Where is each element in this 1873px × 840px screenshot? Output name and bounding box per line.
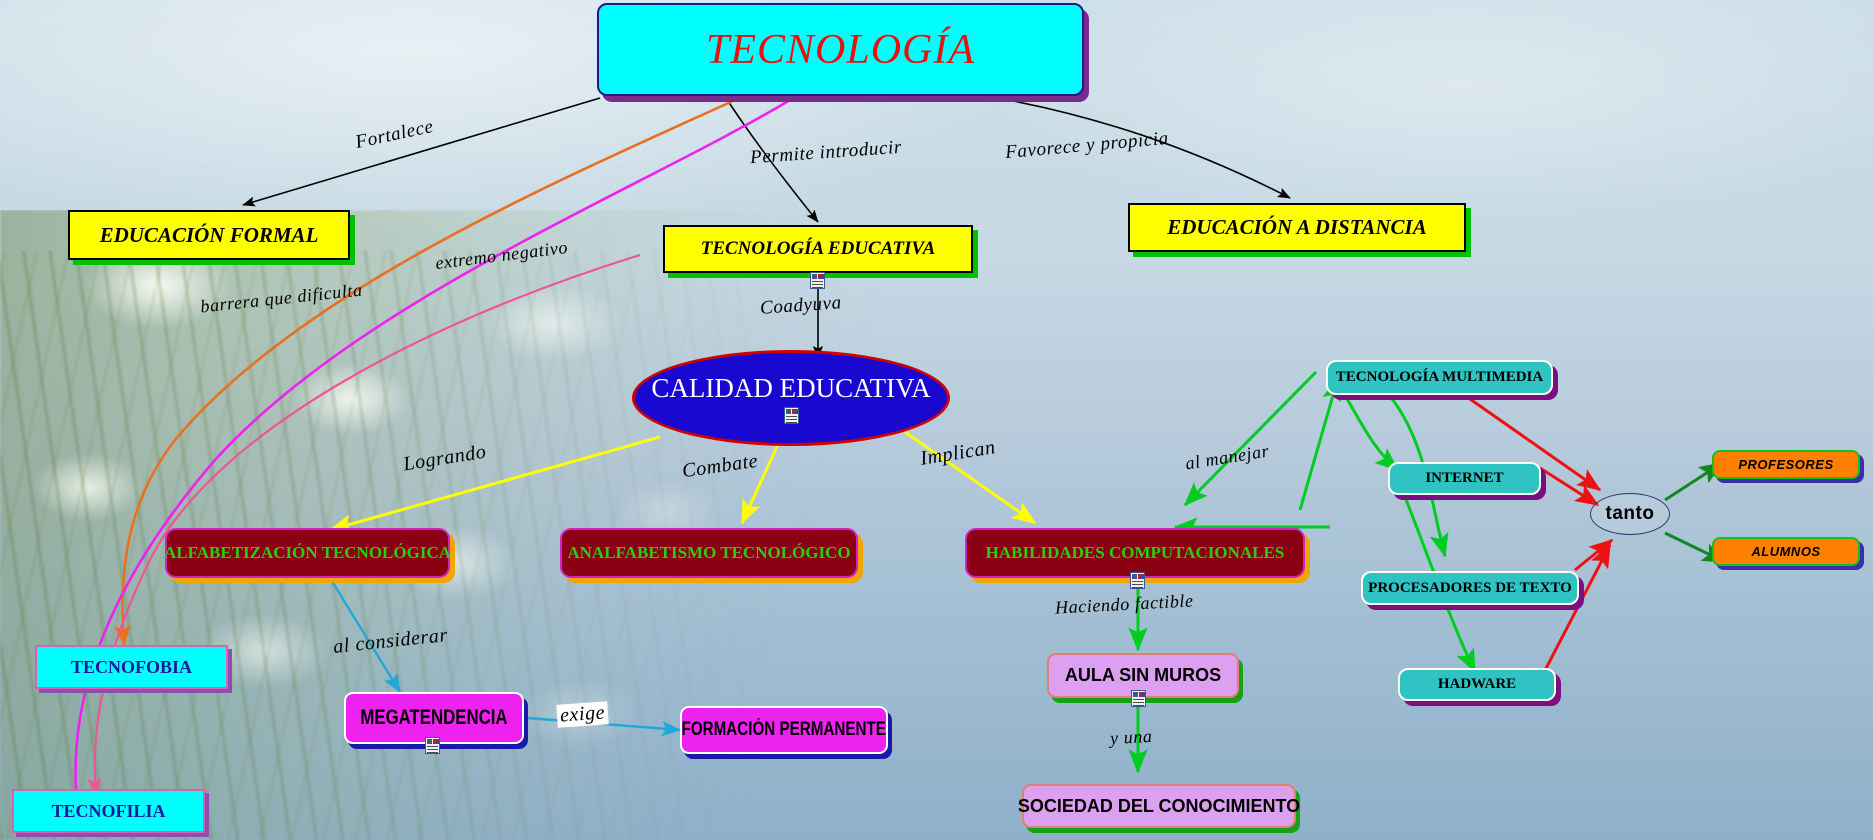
node-educacion-distancia-label: EDUCACIÓN A DISTANCIA: [1167, 215, 1426, 240]
node-tecnologia-multimedia-label: TECNOLOGÍA MULTIMEDIA: [1336, 369, 1543, 386]
node-formacion-permanente-label: FORMACIÓN PERMANENTE: [682, 719, 886, 741]
edge-hadware-tanto: [1540, 545, 1610, 680]
node-tecnologia-multimedia[interactable]: TECNOLOGÍA MULTIMEDIA: [1326, 360, 1553, 395]
document-icon: [1130, 572, 1145, 589]
document-icon: [784, 407, 799, 424]
node-educacion-formal[interactable]: EDUCACIÓN FORMAL: [68, 210, 350, 260]
node-tecnofilia[interactable]: TECNOFILIA: [12, 789, 205, 833]
link-label-y-una: y una: [1109, 726, 1153, 749]
edge-multimedia-habilidades-2: [1185, 372, 1316, 505]
link-exige-text: exige: [559, 701, 606, 726]
node-formacion-permanente[interactable]: FORMACIÓN PERMANENTE: [680, 706, 888, 754]
edge-calidad-alfabetizacion: [330, 437, 660, 530]
node-analfabetismo-tecnologico[interactable]: ANALFABETISMO TECNOLÓGICO: [560, 528, 858, 578]
node-alumnos[interactable]: ALUMNOS: [1712, 537, 1860, 566]
concept-map-canvas: TECNOLOGÍA EDUCACIÓN FORMAL TECNOLOGÍA E…: [0, 0, 1873, 840]
edge-internet-tanto: [1540, 468, 1598, 505]
document-icon: [1131, 690, 1146, 707]
node-tecnofilia-label: TECNOFILIA: [51, 801, 165, 822]
node-internet[interactable]: INTERNET: [1388, 462, 1541, 495]
node-sociedad-conocimiento-label: SOCIEDAD DEL CONOCIMIENTO: [1018, 796, 1300, 817]
node-sociedad-conocimiento[interactable]: SOCIEDAD DEL CONOCIMIENTO: [1022, 784, 1296, 828]
node-tecnofobia-label: TECNOFOBIA: [71, 657, 192, 678]
node-educacion-distancia[interactable]: EDUCACIÓN A DISTANCIA: [1128, 203, 1466, 252]
node-procesadores-label: PROCESADORES DE TEXTO: [1368, 580, 1572, 597]
node-educacion-formal-label: EDUCACIÓN FORMAL: [100, 223, 319, 248]
node-hadware[interactable]: HADWARE: [1398, 668, 1556, 701]
edge-habilidades-multimedia: [1300, 378, 1338, 510]
link-label-exige: exige: [556, 701, 609, 728]
edge-multimedia-internet: [1345, 395, 1398, 470]
node-alumnos-label: ALUMNOS: [1751, 544, 1820, 559]
document-icon: [810, 272, 825, 289]
node-procesadores-de-texto[interactable]: PROCESADORES DE TEXTO: [1361, 571, 1579, 605]
document-icon: [425, 737, 440, 754]
connector-layer: [0, 0, 1873, 840]
node-habilidades-computacionales[interactable]: HABILIDADES COMPUTACIONALES: [965, 528, 1305, 578]
doc-icon-aula[interactable]: [1131, 690, 1146, 712]
node-tanto[interactable]: tanto: [1590, 493, 1670, 535]
node-tecnologia-educativa[interactable]: TECNOLOGÍA EDUCATIVA: [663, 225, 973, 273]
edge-title-educacion-formal: [243, 98, 600, 205]
node-hadware-label: HADWARE: [1438, 676, 1516, 693]
node-aula-sin-muros-label: AULA SIN MUROS: [1065, 665, 1221, 686]
link-coadyuva-text: Coadyuva: [759, 292, 842, 319]
node-tanto-label: tanto: [1606, 503, 1655, 525]
node-alfabetizacion-tecnologica[interactable]: ALFABETIZACIÓN TECNOLÓGICA: [165, 528, 450, 578]
node-internet-label: INTERNET: [1425, 470, 1503, 487]
node-analfabetismo-label: ANALFABETISMO TECNOLÓGICO: [567, 543, 850, 563]
doc-icon-tecnologia-educativa[interactable]: [810, 272, 825, 294]
link-y-una-text: y una: [1109, 726, 1152, 748]
node-profesores[interactable]: PROFESORES: [1712, 450, 1860, 479]
doc-icon-megatendencia[interactable]: [425, 737, 440, 759]
doc-icon-habilidades[interactable]: [1130, 572, 1145, 594]
node-profesores-label: PROFESORES: [1738, 457, 1833, 472]
node-calidad-educativa-label: CALIDAD EDUCATIVA: [651, 373, 930, 404]
title-label: TECNOLOGÍA: [706, 26, 975, 74]
node-tecnologia-educativa-label: TECNOLOGÍA EDUCATIVA: [701, 238, 936, 260]
node-calidad-educativa[interactable]: CALIDAD EDUCATIVA: [632, 350, 950, 446]
node-megatendencia-label: MEGATENDENCIA: [360, 706, 507, 730]
node-tecnofobia[interactable]: TECNOFOBIA: [35, 645, 228, 689]
node-habilidades-label: HABILIDADES COMPUTACIONALES: [986, 543, 1285, 563]
node-tecnologia[interactable]: TECNOLOGÍA: [597, 3, 1084, 96]
node-alfabetizacion-label: ALFABETIZACIÓN TECNOLÓGICA: [164, 543, 451, 563]
